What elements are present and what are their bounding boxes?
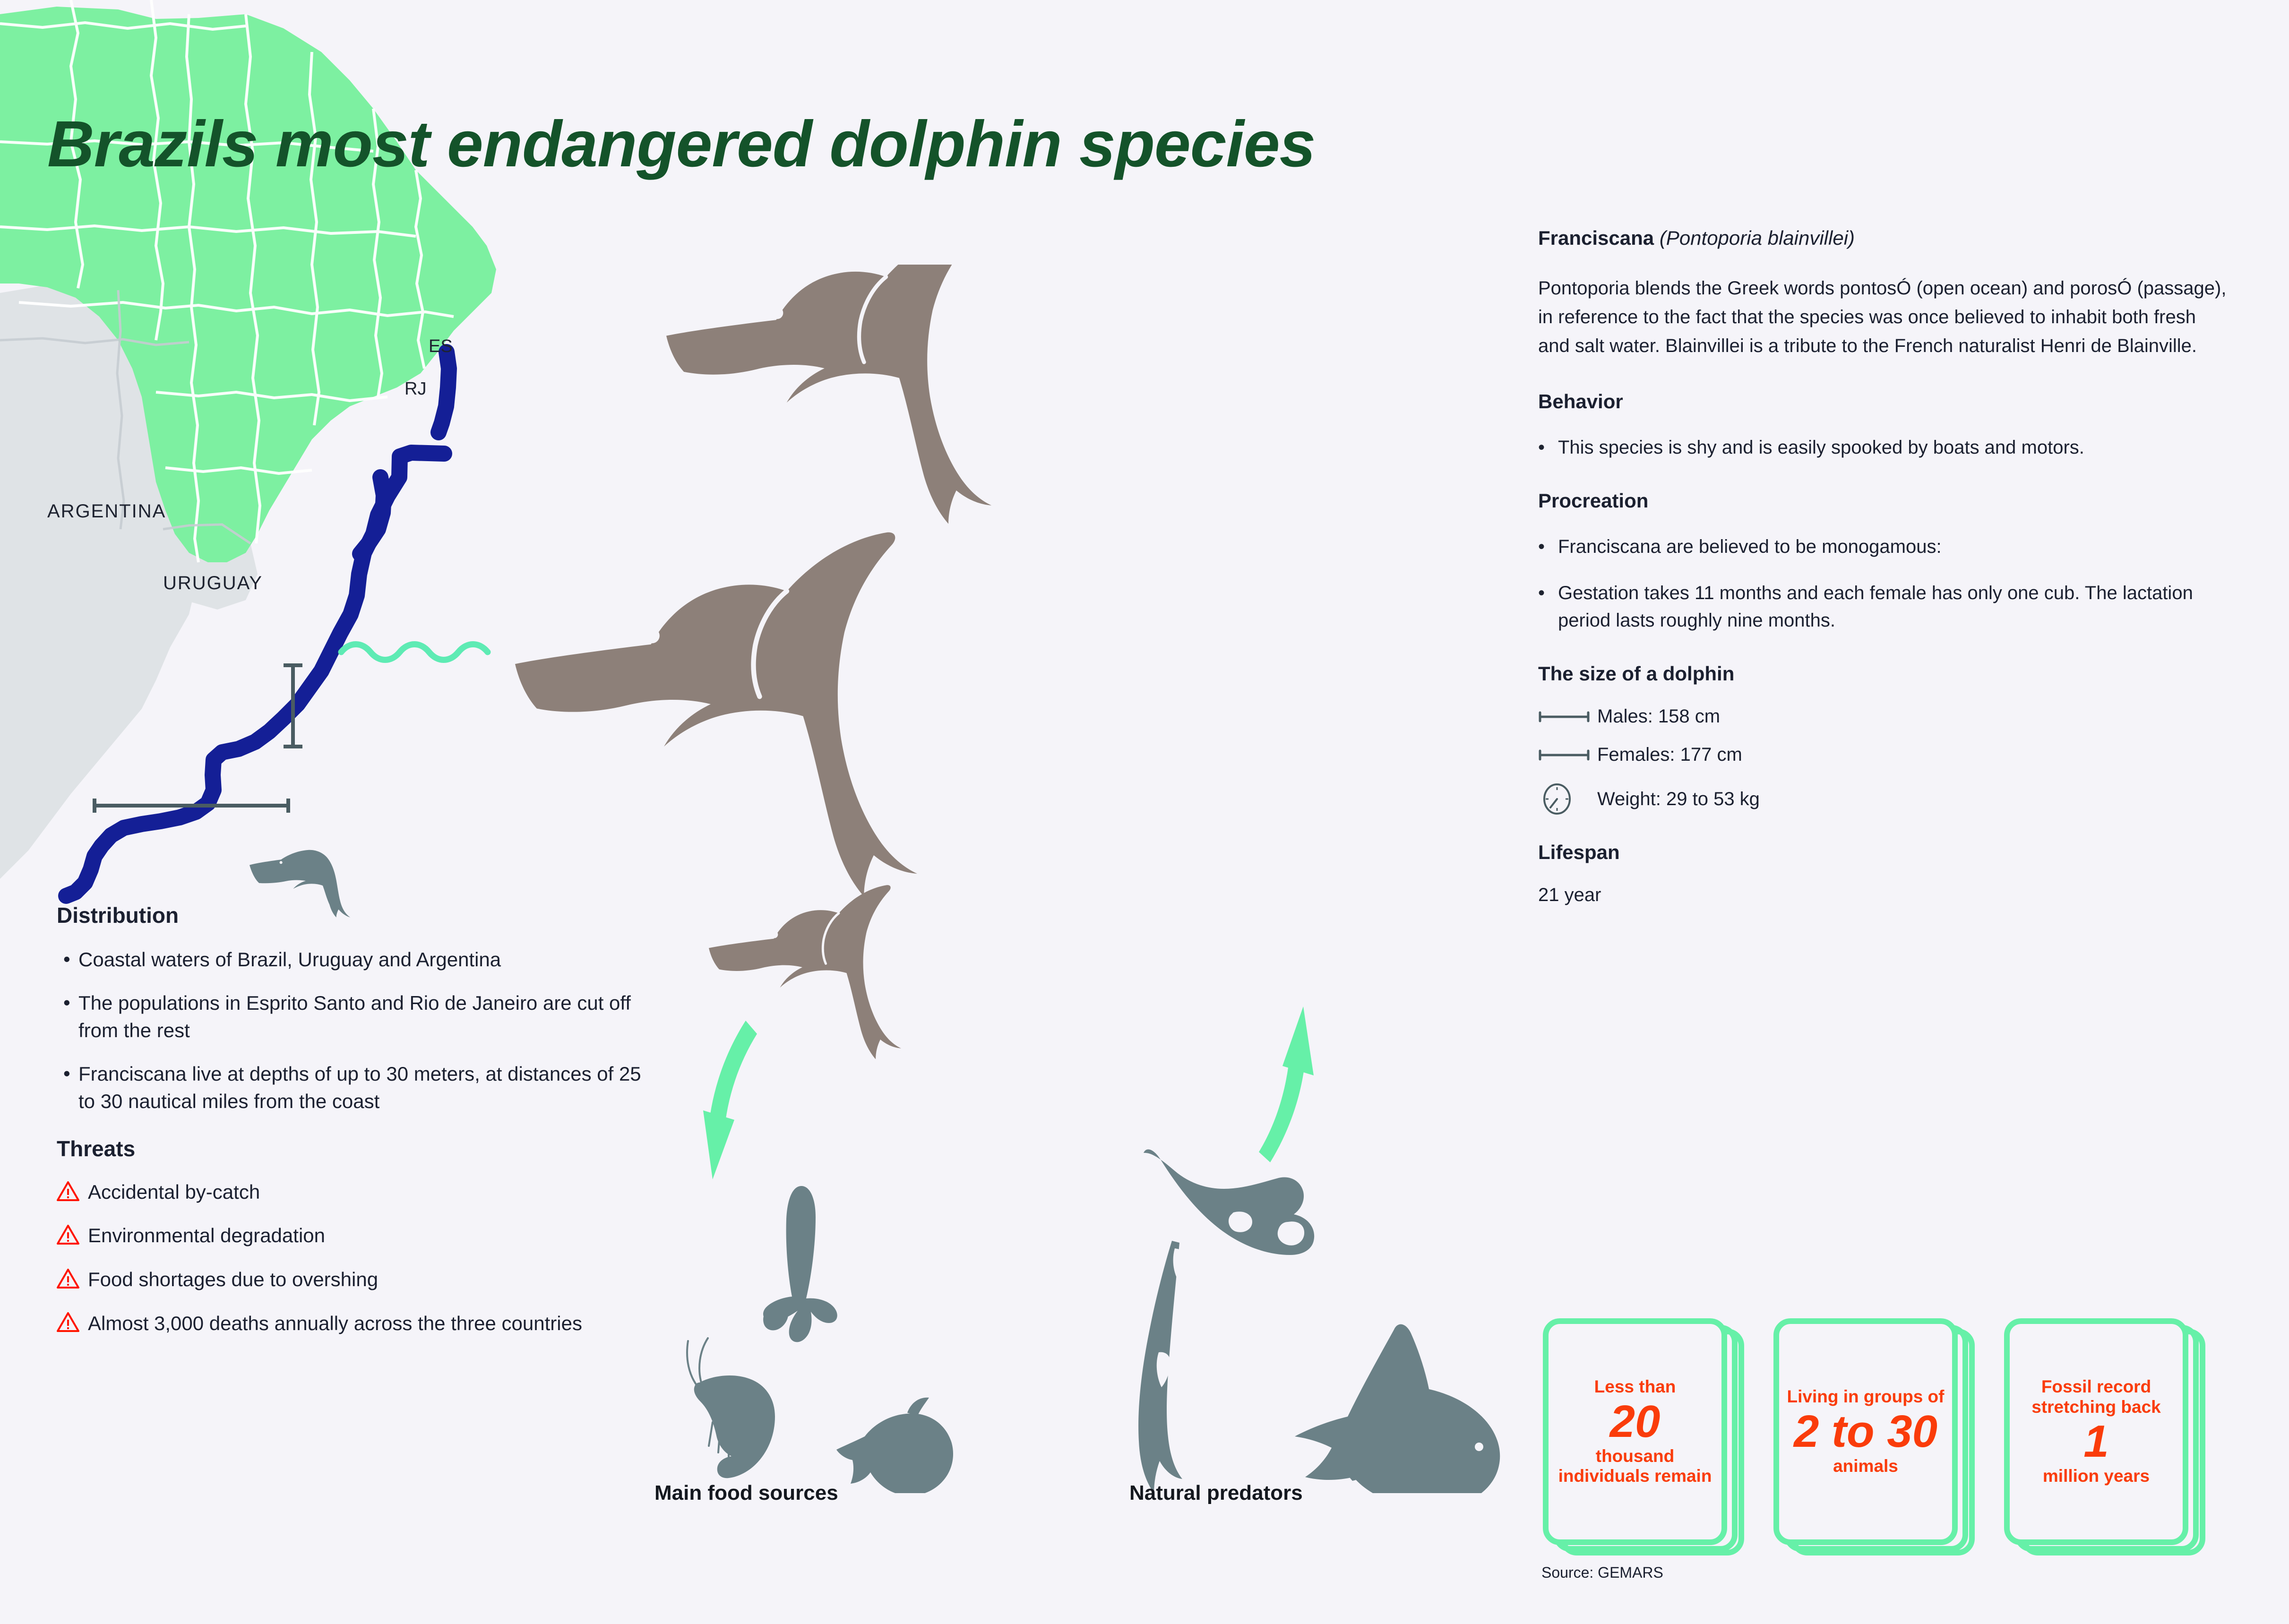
distribution-bullet-text: Coastal waters of Brazil, Uruguay and Ar… <box>78 946 501 973</box>
threat-text: Food shortages due to overshing <box>88 1267 378 1293</box>
card-face: Less than 20 thousand individuals remain <box>1543 1318 1727 1545</box>
warning-triangle-icon <box>57 1224 88 1247</box>
map-label-uruguay: URUGUAY <box>163 573 263 594</box>
natural-predators-label: Natural predators <box>1129 1481 1303 1505</box>
page-title: Brazils most endangered dolphin species <box>47 107 1315 182</box>
procreation-section: Procreation • Franciscana are believed t… <box>1538 490 2228 634</box>
list-item: Males: 158 cm <box>1538 706 2228 727</box>
bullet-dot: • <box>57 989 78 1044</box>
orca-illustration <box>1138 1149 1314 1493</box>
bullet-dot: • <box>1538 579 1558 634</box>
main-food-sources-label: Main food sources <box>654 1481 838 1505</box>
lifespan-section: Lifespan 21 year <box>1538 841 2228 906</box>
map-label-argentina: ARGENTINA <box>47 501 166 522</box>
list-item: • Franciscana are believed to be monogam… <box>1538 533 2228 560</box>
threat-text: Accidental by-catch <box>88 1179 260 1205</box>
card-face: Fossil record stretching back 1 million … <box>2004 1318 2188 1545</box>
shrimp-illustration <box>687 1338 775 1478</box>
bullet-dot: • <box>57 1060 78 1115</box>
right-info-column: Franciscana (Pontoporia blainvillei) Pon… <box>1538 227 2228 906</box>
stat-card[interactable]: Fossil record stretching back 1 million … <box>2004 1318 2188 1545</box>
card-bottom-text: million years <box>2043 1466 2150 1487</box>
list-item: • This species is shy and is easily spoo… <box>1538 434 2228 461</box>
weight-scale-icon <box>1538 782 1597 816</box>
procreation-heading: Procreation <box>1538 490 2228 512</box>
size-section: The size of a dolphin Males: 158 cm Fema… <box>1538 662 2228 816</box>
card-bottom-text: animals <box>1833 1456 1898 1477</box>
bullet-dot: • <box>57 946 78 973</box>
stat-cards-row: Less than 20 thousand individuals remain… <box>1543 1318 2188 1545</box>
arrow-down-left-icon <box>703 1021 757 1179</box>
stat-card[interactable]: Less than 20 thousand individuals remain <box>1543 1318 1727 1545</box>
list-item: Weight: 29 to 53 kg <box>1538 782 2228 816</box>
warning-triangle-icon <box>57 1312 88 1335</box>
card-bottom-text: thousand individuals remain <box>1556 1446 1714 1487</box>
card-big-number: 1 <box>2083 1419 2108 1464</box>
map-label-es: ES <box>429 336 453 357</box>
ruler-icon <box>1538 749 1597 761</box>
shark-illustration <box>1295 1324 1500 1493</box>
card-big-number: 2 to 30 <box>1794 1409 1937 1454</box>
list-item: • Gestation takes 11 months and each fem… <box>1538 579 2228 634</box>
species-description: Pontoporia blends the Greek words pontos… <box>1538 274 2228 360</box>
lifespan-heading: Lifespan <box>1538 841 2228 864</box>
procreation-bullet-text: Gestation takes 11 months and each femal… <box>1558 579 2228 634</box>
species-name: Franciscana <box>1538 227 1654 249</box>
center-illustrations <box>510 265 1503 1493</box>
fish-illustration <box>836 1398 953 1493</box>
map-label-rj: RJ <box>404 379 426 399</box>
arrow-up-right-icon <box>1259 1006 1314 1162</box>
size-heading: The size of a dolphin <box>1538 662 2228 685</box>
dolphin-illustration-middle <box>515 533 917 897</box>
procreation-bullet-text: Franciscana are believed to be monogamou… <box>1558 533 1942 560</box>
bullet-dot: • <box>1538 533 1558 560</box>
threat-text: Environmental degradation <box>88 1223 325 1249</box>
card-top-text: Less than <box>1594 1377 1676 1397</box>
behavior-heading: Behavior <box>1538 390 2228 413</box>
size-value-weight: Weight: 29 to 53 kg <box>1597 789 1760 810</box>
species-title: Franciscana (Pontoporia blainvillei) <box>1538 227 2228 249</box>
ruler-icon <box>1538 711 1597 723</box>
bullet-dot: • <box>1538 434 1558 461</box>
behavior-section: Behavior • This species is shy and is ea… <box>1538 390 2228 461</box>
squid-illustration <box>763 1186 837 1342</box>
dolphin-illustration-top <box>666 265 991 524</box>
list-item: Females: 177 cm <box>1538 744 2228 765</box>
behavior-bullet-text: This species is shy and is easily spooke… <box>1558 434 2084 461</box>
warning-triangle-icon <box>57 1181 88 1204</box>
threat-text: Almost 3,000 deaths annually across the … <box>88 1311 582 1337</box>
card-top-text: Living in groups of <box>1787 1387 1945 1407</box>
lifespan-value: 21 year <box>1538 885 2228 906</box>
dolphin-illustration-small <box>709 885 901 1059</box>
card-face: Living in groups of 2 to 30 animals <box>1773 1318 1958 1545</box>
size-value-males: Males: 158 cm <box>1597 706 1720 727</box>
card-top-text: Fossil record stretching back <box>2017 1377 2175 1418</box>
wave-icon <box>341 644 488 660</box>
species-latin-name: (Pontoporia blainvillei) <box>1660 227 1855 249</box>
stat-card[interactable]: Living in groups of 2 to 30 animals <box>1773 1318 1958 1545</box>
card-big-number: 20 <box>1610 1399 1661 1444</box>
source-note: Source: GEMARS <box>1541 1564 1663 1581</box>
size-value-females: Females: 177 cm <box>1597 744 1742 765</box>
warning-triangle-icon <box>57 1268 88 1291</box>
